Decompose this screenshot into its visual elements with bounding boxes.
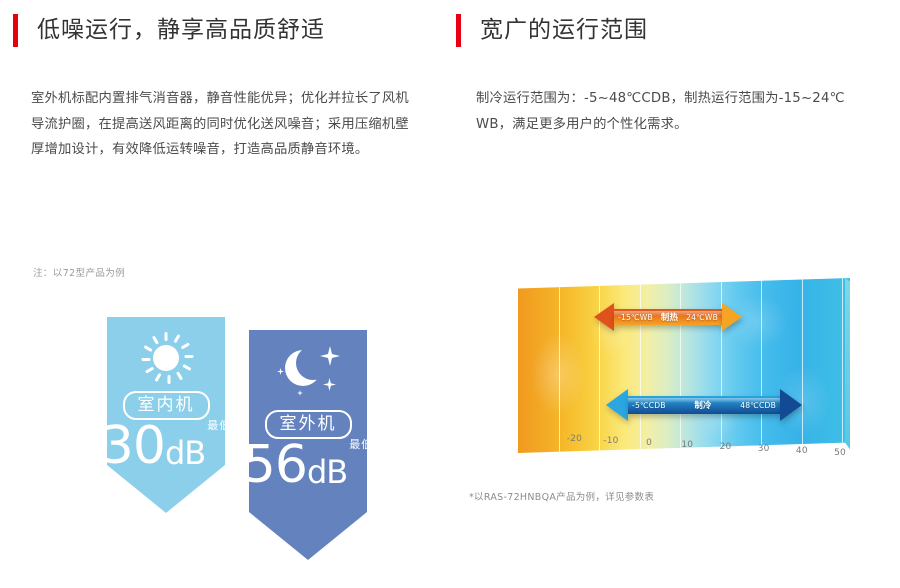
- left-heading-title: 低噪运行，静享高品质舒适: [37, 14, 325, 47]
- cooling-mode-label: 制冷: [694, 399, 711, 411]
- cooling-min-label: -5℃CDB: [632, 401, 666, 410]
- indoor-db-unit: dB: [165, 436, 205, 470]
- axis-tick: 10: [681, 440, 693, 450]
- axis-tick: 40: [796, 446, 808, 456]
- outdoor-badge-value-row: 56 dB 最低: [243, 441, 373, 489]
- heating-arrow-left-head: [594, 303, 614, 331]
- heating-arrow-bar: -15℃WB 制热 24℃WB: [614, 309, 722, 325]
- heating-arrow-right-head: [722, 303, 742, 331]
- sun-icon: [137, 331, 195, 385]
- left-heading-row: 低噪运行，静享高品质舒适: [13, 14, 325, 47]
- cooling-arrow-right-head: [780, 389, 802, 421]
- left-column: 低噪运行，静享高品质舒适 室外机标配内置排气消音器，静音性能优异；优化并拉长了风…: [0, 0, 450, 588]
- page-root: 低噪运行，静享高品质舒适 室外机标配内置排气消音器，静音性能优异；优化并拉长了风…: [0, 0, 900, 588]
- cooling-arrow-bar: -5℃CDB 制冷 48℃CDB: [628, 396, 780, 414]
- indoor-noise-badge: 室内机 30 dB 最低: [107, 317, 225, 513]
- cooling-max-label: 48℃CDB: [740, 401, 776, 410]
- outdoor-db-value: 56: [243, 441, 307, 489]
- right-heading-row: 宽广的运行范围: [456, 14, 648, 47]
- indoor-db-value: 30: [101, 422, 165, 470]
- axis-tick: 30: [758, 444, 770, 454]
- outdoor-noise-badge: 室外机 56 dB 最低: [249, 330, 367, 560]
- axis-tick: 50: [834, 448, 846, 458]
- left-body-paragraph: 室外机标配内置排气消音器，静音性能优异；优化并拉长了风机导流护圈，在提高送风距离…: [31, 86, 421, 163]
- right-body-paragraph: 制冷运行范围为：-5~48℃CDB，制热运行范围为-15~24℃ WB，满足更多…: [476, 86, 876, 137]
- right-accent-bar: [456, 14, 461, 47]
- chart-footnote: *以RAS-72HNBQA产品为例，详见参数表: [469, 489, 654, 503]
- left-accent-bar: [13, 14, 18, 47]
- heating-mode-label: 制热: [661, 311, 678, 323]
- axis-tick: -10: [603, 436, 618, 446]
- cooling-range-arrow: -5℃CDB 制冷 48℃CDB: [606, 389, 802, 421]
- axis-tick: -20: [567, 434, 582, 444]
- right-heading-title: 宽广的运行范围: [480, 14, 648, 47]
- left-note: 注：以72型产品为例: [33, 265, 125, 279]
- indoor-badge-value-row: 30 dB 最低: [101, 422, 231, 470]
- heating-max-label: 24℃WB: [686, 313, 718, 322]
- outdoor-badge-arrow-tip: [249, 512, 367, 560]
- temperature-axis: -20 -10 0 10 20 30 40 50: [518, 434, 850, 460]
- heating-range-arrow: -15℃WB 制热 24℃WB: [594, 303, 742, 331]
- outdoor-db-superscript: 最低: [349, 439, 373, 451]
- axis-tick: 20: [720, 442, 732, 452]
- indoor-db-superscript: 最低: [207, 420, 231, 432]
- axis-tick: 0: [646, 438, 652, 448]
- plate-right-edge: [845, 278, 850, 453]
- cooling-arrow-left-head: [606, 389, 628, 421]
- outdoor-db-unit: dB: [307, 455, 347, 489]
- moon-icon: [273, 342, 343, 404]
- heating-min-label: -15℃WB: [618, 313, 653, 322]
